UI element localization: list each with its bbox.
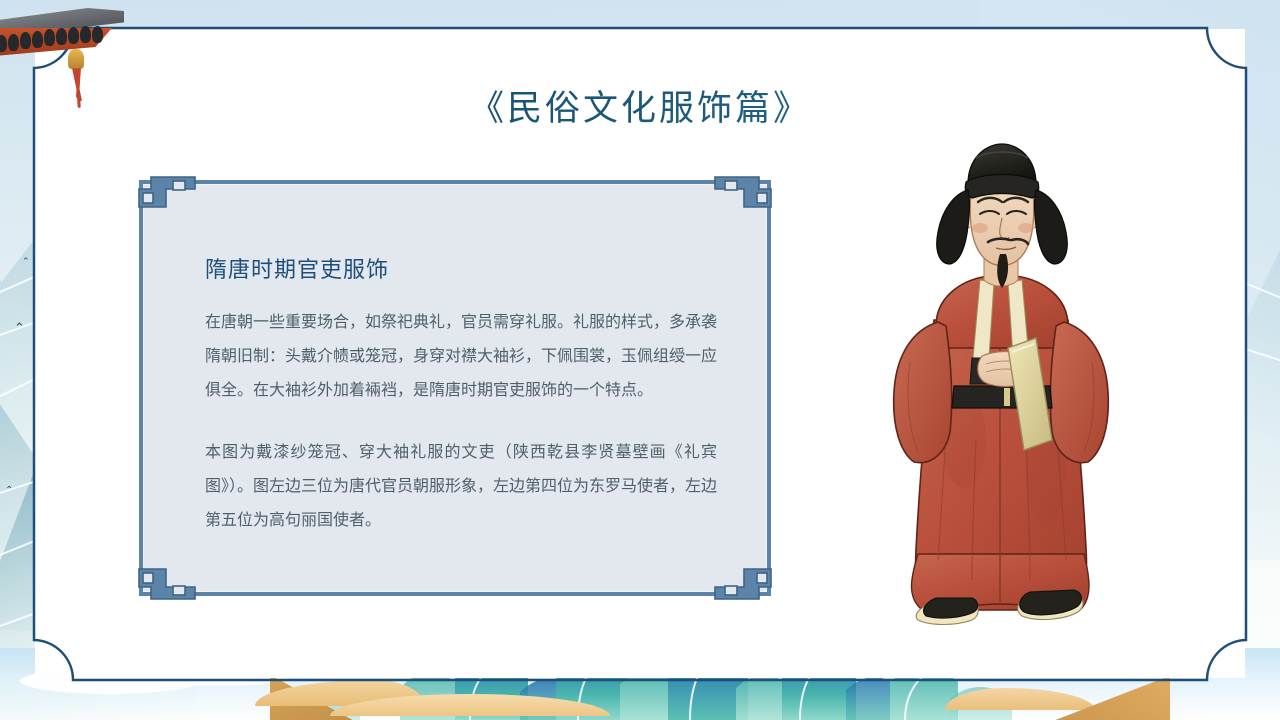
section-body: 在唐朝一些重要场合，如祭祀典礼，官员需穿礼服。礼服的样式，多承袭隋朝旧制：头戴介… [205, 306, 717, 538]
eave-tiles [0, 26, 108, 44]
tang-official-illustration [876, 140, 1126, 640]
body-paragraph-2: 本图为戴漆纱笼冠、穿大袖礼服的文吏（陕西乾县李贤墓壁画《礼宾图》）。图左边三位为… [205, 436, 717, 538]
section-heading: 隋唐时期官吏服饰 [205, 252, 389, 284]
bird-icon: ⌃ [22, 258, 30, 267]
bird-icon: ⌃ [14, 322, 25, 335]
body-paragraph-1: 在唐朝一些重要场合，如祭祀典礼，官员需穿礼服。礼服的样式，多承袭隋朝旧制：头戴介… [205, 306, 717, 408]
temple-eave-decoration [0, 4, 129, 74]
bird-icon: ⌃ [5, 486, 13, 496]
slide-canvas: ⌃ ⌃ ⌃ [0, 0, 1280, 720]
page-title: 《民俗文化服饰篇》 [0, 80, 1280, 131]
hanging-bell-icon [68, 49, 84, 69]
content-panel: 隋唐时期官吏服饰 在唐朝一些重要场合，如祭祀典礼，官员需穿礼服。礼服的样式，多承… [139, 180, 771, 596]
